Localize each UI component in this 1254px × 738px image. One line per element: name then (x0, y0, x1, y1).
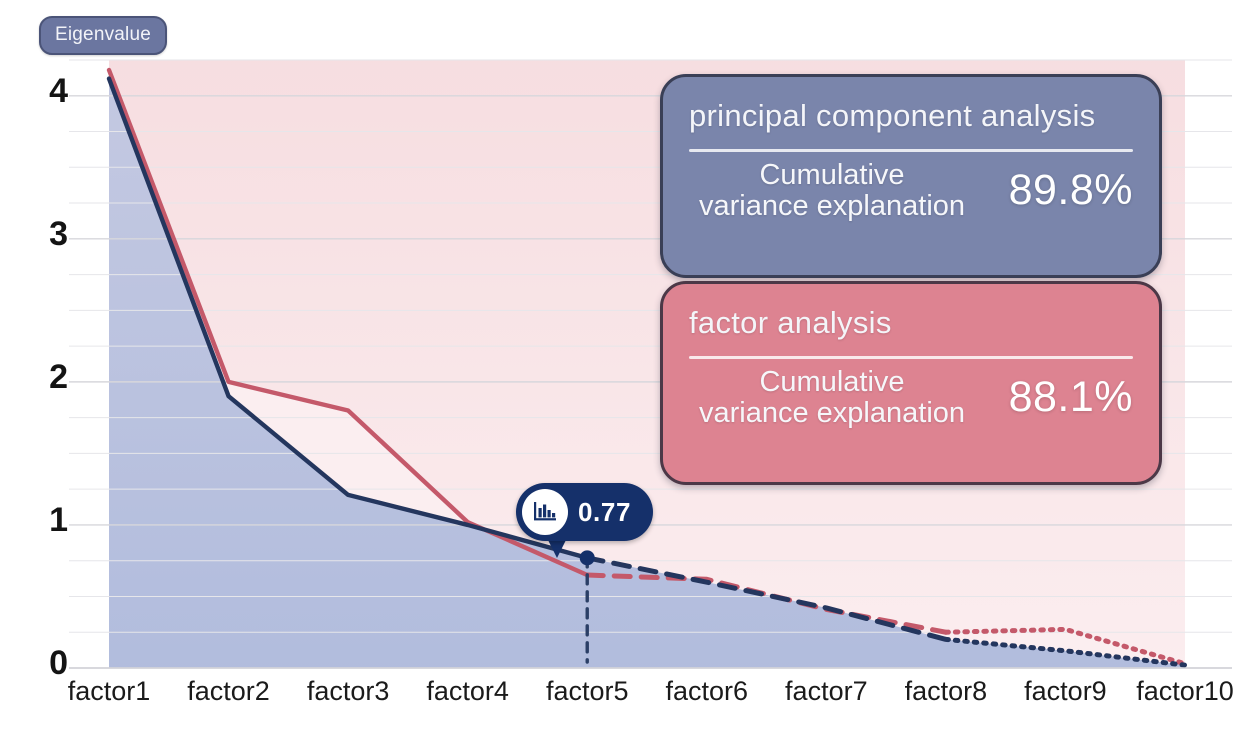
y-axis-title-text: Eigenvalue (55, 24, 151, 45)
card-metric-line2-fa: variance explanation (699, 398, 965, 428)
card-metric-label-pca: Cumulative variance explanation (685, 160, 965, 221)
card-metric-line2-pca: variance explanation (699, 191, 965, 221)
y-tick-4: 4 (8, 74, 68, 108)
y-tick-3: 3 (8, 217, 68, 251)
tooltip-value: 0.77 (578, 499, 631, 525)
card-title-fa: factor analysis (689, 306, 1137, 340)
y-tick-2: 2 (8, 360, 68, 394)
card-value-fa: 88.1% (1009, 376, 1137, 419)
card-metric-label-fa: Cumulative variance explanation (685, 367, 965, 428)
y-tick-0: 0 (8, 646, 68, 680)
card-divider-pca (689, 149, 1133, 152)
card-title-pca: principal component analysis (689, 99, 1137, 133)
card-divider-fa (689, 356, 1133, 359)
card-value-pca: 89.8% (1009, 169, 1137, 212)
x-tick-factor10: factor10 (1110, 678, 1254, 705)
data-point-tooltip[interactable]: 0.77 (516, 483, 653, 541)
card-principal-component-analysis: principal component analysis Cumulative … (660, 74, 1162, 278)
card-metric-line1-fa: Cumulative (699, 367, 965, 397)
bar-chart-icon (522, 489, 568, 535)
y-axis-title-badge: Eigenvalue (39, 16, 167, 55)
card-factor-analysis: factor analysis Cumulative variance expl… (660, 281, 1162, 485)
card-metric-line1-pca: Cumulative (699, 160, 965, 190)
annotation-marker-point (580, 550, 595, 565)
y-tick-1: 1 (8, 503, 68, 537)
chart-canvas: Eigenvalue 4 3 2 1 0 factor1factor2facto… (0, 0, 1254, 738)
